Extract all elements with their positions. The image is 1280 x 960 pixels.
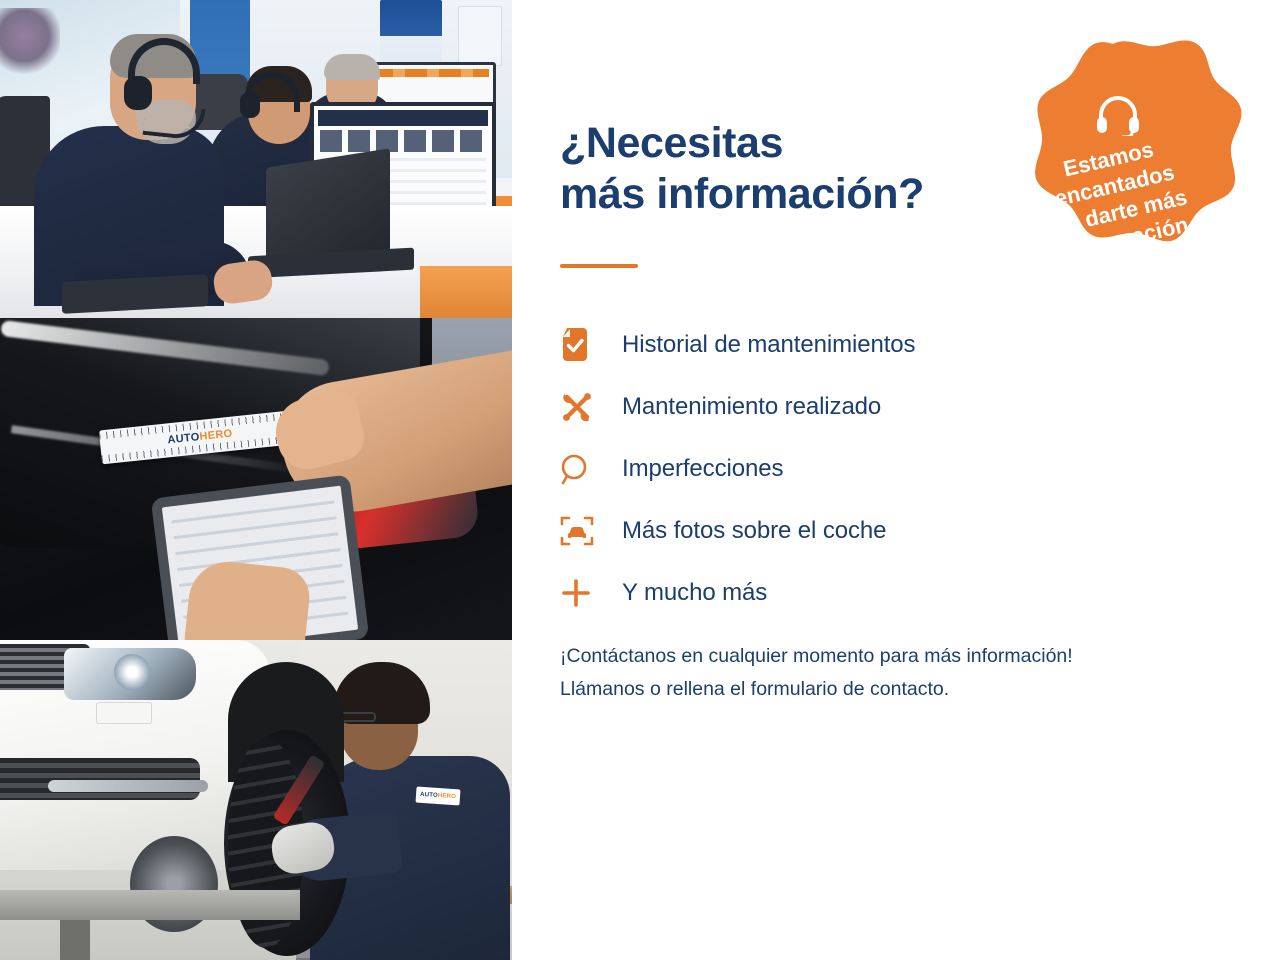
workshop-wheel-technician-photo: AUTOHERO (0, 640, 512, 960)
feature-label: Historial de mantenimientos (622, 331, 915, 359)
contact-line-1: ¡Contáctanos en cualquier momento para m… (560, 640, 1240, 673)
wrench-screwdriver-icon (560, 390, 606, 424)
feature-label: Más fotos sobre el coche (622, 517, 886, 545)
ruler-brand-auto: AUTO (167, 431, 200, 446)
car-viewfinder-icon (560, 515, 606, 547)
patch-brand-auto: AUTO (420, 792, 438, 799)
photo-collage: AUTOHERO AUTOHERO (0, 0, 512, 960)
document-check-icon (560, 328, 606, 362)
ruler-brand-hero: HERO (199, 428, 233, 443)
feature-label: Imperfecciones (622, 455, 783, 483)
headline-line-1: ¿Necesitas (560, 119, 783, 167)
plus-icon (560, 577, 606, 609)
status-badge-starburst: Estamos encantados de darte más informac… (972, 38, 1254, 320)
contact-paragraph: ¡Contáctanos en cualquier momento para m… (560, 640, 1240, 706)
feature-list: Historial de mantenimientos M (560, 314, 1200, 624)
autohero-uniform-patch: AUTOHERO (415, 786, 460, 805)
feature-label: Mantenimiento realizado (622, 393, 881, 421)
page-title: ¿Necesitas más información? (560, 118, 924, 219)
title-underline-rule (560, 264, 638, 268)
patch-brand-hero: HERO (438, 793, 457, 800)
contact-line-2: Llámanos o rellena el formulario de cont… (560, 673, 1240, 706)
magnifier-icon (560, 453, 606, 485)
feature-item-much-more: Y mucho más (560, 562, 1200, 624)
headline-line-2: más información? (560, 170, 924, 218)
feature-item-more-photos: Más fotos sobre el coche (560, 500, 1200, 562)
car-inspection-ruler-photo: AUTOHERO (0, 318, 512, 640)
call-center-agents-photo (0, 0, 512, 318)
feature-item-maintenance-done: Mantenimiento realizado (560, 376, 1200, 438)
promo-page: AUTOHERO AUTOHERO (0, 0, 1280, 960)
feature-item-imperfections: Imperfecciones (560, 438, 1200, 500)
feature-label: Y mucho más (622, 579, 767, 607)
